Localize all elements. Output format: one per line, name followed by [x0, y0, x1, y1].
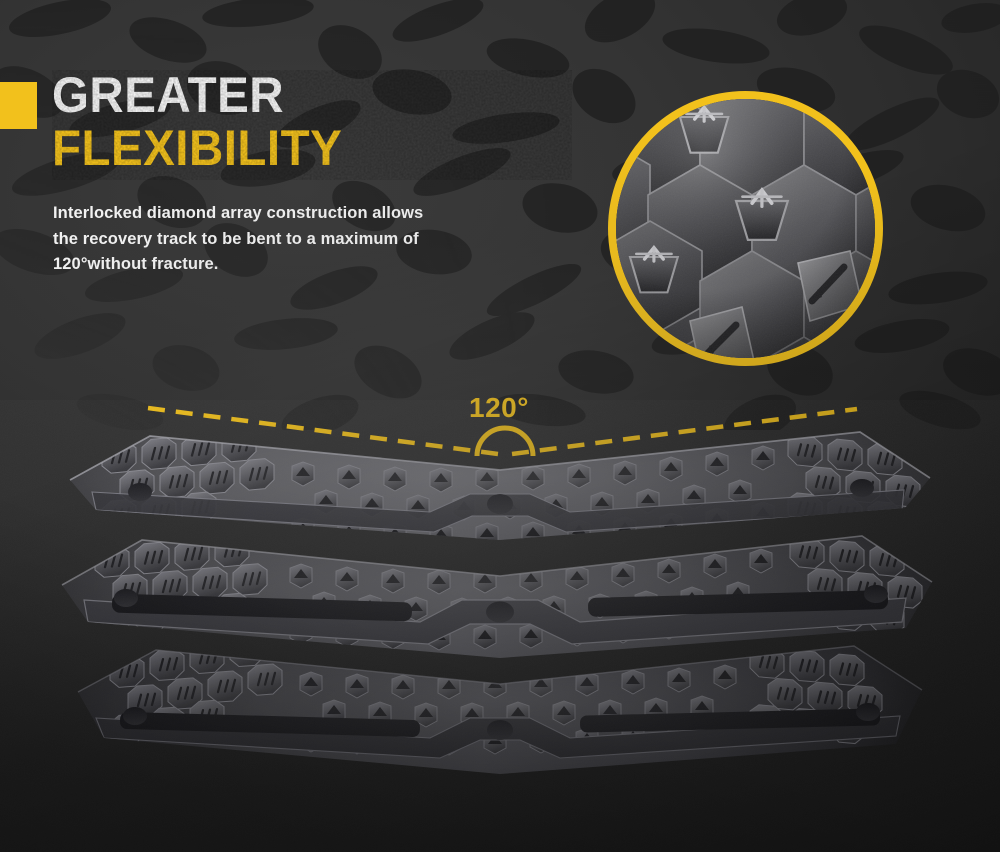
headline-secondary: FLEXIBILITY	[52, 123, 546, 174]
headline-primary: GREATER	[52, 70, 546, 121]
body-paragraph: Interlocked diamond array construction a…	[53, 201, 453, 278]
accent-square	[0, 82, 37, 129]
tread-closeup-circle	[608, 91, 883, 366]
infographic-canvas: GREATER FLEXIBILITY Interlocked diamond …	[0, 0, 1000, 852]
recovery-tracks-stack	[0, 400, 1000, 852]
headline-block: GREATER FLEXIBILITY	[52, 70, 572, 174]
tread-closeup-photo	[608, 91, 883, 366]
